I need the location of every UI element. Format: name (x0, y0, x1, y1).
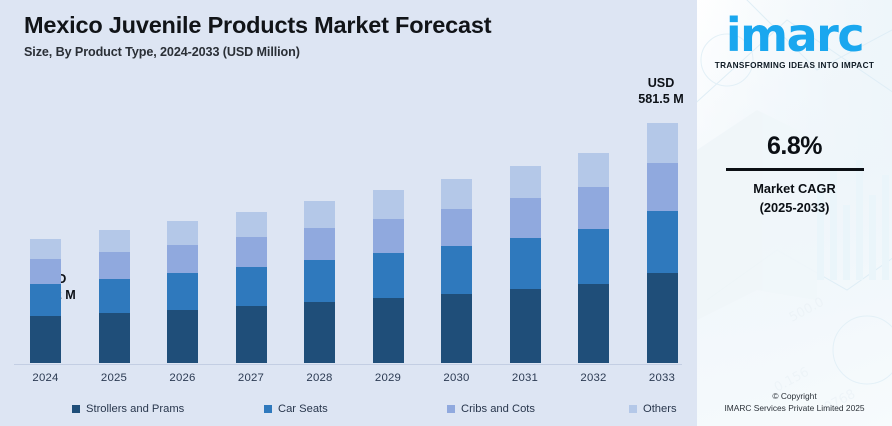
bar-segment[interactable] (578, 187, 609, 229)
bar-segment[interactable] (99, 279, 130, 314)
bar-segment[interactable] (510, 238, 541, 289)
bar-segment[interactable] (99, 313, 130, 363)
plot-area: USD 301.2 M USD 581.5 M 2024202520262027… (0, 0, 697, 426)
bar-segment[interactable] (510, 198, 541, 237)
legend-item-3[interactable]: Others (629, 403, 677, 415)
bar-segment[interactable] (167, 245, 198, 273)
legend-label: Car Seats (278, 403, 328, 415)
x-axis-label-2031: 2031 (498, 372, 553, 384)
bar-segment[interactable] (167, 273, 198, 310)
bar-segment[interactable] (99, 252, 130, 279)
logo-tagline: TRANSFORMING IDEAS INTO IMPACT (697, 61, 892, 70)
bar-segment[interactable] (304, 260, 335, 302)
stacked-bar[interactable] (373, 190, 404, 363)
bar-segment[interactable] (236, 212, 267, 237)
bar-segment[interactable] (30, 284, 61, 316)
x-axis-label-2026: 2026 (155, 372, 210, 384)
stacked-bar[interactable] (30, 239, 61, 363)
stacked-bar[interactable] (99, 230, 130, 363)
stacked-bar[interactable] (441, 178, 472, 363)
bar-segment[interactable] (236, 267, 267, 306)
brand-panel: 500.0 0.156 0768 imarc TRANSFORMING IDEA… (697, 0, 892, 426)
copyright-line-1: © Copyright (697, 390, 892, 403)
chart-panel: Mexico Juvenile Products Market Forecast… (0, 0, 697, 426)
bar-segment[interactable] (236, 306, 267, 363)
stacked-bar[interactable] (236, 212, 267, 363)
bar-segment[interactable] (647, 163, 678, 211)
bar-segment[interactable] (304, 201, 335, 228)
x-axis-label-2030: 2030 (429, 372, 484, 384)
bar-segment[interactable] (647, 211, 678, 273)
stacked-bar[interactable] (304, 201, 335, 363)
bar-segment[interactable] (30, 239, 61, 260)
bar-segment[interactable] (441, 179, 472, 209)
cagr-block: 6.8% Market CAGR (2025-2033) (697, 132, 892, 218)
copyright-notice: © Copyright IMARC Services Private Limit… (697, 390, 892, 415)
stacked-bar[interactable] (647, 123, 678, 363)
legend-swatch-icon (447, 405, 455, 413)
legend-label: Cribs and Cots (461, 403, 535, 415)
x-axis-label-2033: 2033 (635, 372, 690, 384)
bar-segment[interactable] (373, 253, 404, 298)
bar-segment[interactable] (167, 221, 198, 244)
bar-segment[interactable] (647, 123, 678, 163)
bar-segment[interactable] (373, 190, 404, 219)
cagr-divider (726, 168, 864, 172)
legend-swatch-icon (264, 405, 272, 413)
bar-segment[interactable] (578, 153, 609, 188)
copyright-line-2: IMARC Services Private Limited 2025 (697, 402, 892, 415)
cagr-period: (2025-2033) (697, 199, 892, 218)
legend-label: Others (643, 403, 677, 415)
legend-item-1[interactable]: Car Seats (264, 403, 447, 415)
legend-item-2[interactable]: Cribs and Cots (447, 403, 629, 415)
imarc-logo: imarc TRANSFORMING IDEAS INTO IMPACT (697, 14, 892, 70)
bar-segment[interactable] (304, 228, 335, 260)
bar-segment[interactable] (30, 316, 61, 363)
bar-segment[interactable] (99, 230, 130, 252)
bar-segment[interactable] (373, 298, 404, 363)
bar-segment[interactable] (373, 219, 404, 254)
x-axis-label-2024: 2024 (18, 372, 73, 384)
cagr-value: 6.8% (697, 132, 892, 161)
legend-swatch-icon (72, 405, 80, 413)
bar-segment[interactable] (304, 302, 335, 363)
x-axis-label-2025: 2025 (87, 372, 142, 384)
logo-wordmark: imarc (697, 14, 892, 58)
bar-segment[interactable] (578, 229, 609, 284)
bar-segment[interactable] (441, 209, 472, 246)
bar-segment[interactable] (236, 237, 267, 267)
legend-swatch-icon (629, 405, 637, 413)
bar-segment[interactable] (510, 289, 541, 363)
bar-segment[interactable] (167, 310, 198, 363)
x-axis-label-2032: 2032 (566, 372, 621, 384)
callout-end-value: USD 581.5 M (616, 76, 706, 107)
stacked-bar[interactable] (578, 153, 609, 363)
callout-end-line2: 581.5 M (616, 92, 706, 108)
bar-segment[interactable] (510, 166, 541, 199)
infographic-root: Mexico Juvenile Products Market Forecast… (0, 0, 892, 426)
stacked-bar[interactable] (167, 221, 198, 363)
legend-label: Strollers and Prams (86, 403, 184, 415)
cagr-label: Market CAGR (697, 180, 892, 199)
x-axis-label-2029: 2029 (361, 372, 416, 384)
callout-end-line1: USD (616, 76, 706, 92)
bar-segment[interactable] (647, 273, 678, 363)
bar-segment[interactable] (30, 259, 61, 284)
chart-legend: Strollers and PramsCar SeatsCribs and Co… (0, 403, 697, 415)
bar-segment[interactable] (441, 246, 472, 294)
bar-segment[interactable] (578, 284, 609, 363)
x-axis-label-2027: 2027 (224, 372, 279, 384)
legend-item-0[interactable]: Strollers and Prams (72, 403, 264, 415)
stacked-bar[interactable] (510, 166, 541, 363)
brand-content: imarc TRANSFORMING IDEAS INTO IMPACT 6.8… (697, 0, 892, 426)
bar-segment[interactable] (441, 294, 472, 363)
x-axis-label-2028: 2028 (292, 372, 347, 384)
x-axis-line (14, 364, 682, 365)
